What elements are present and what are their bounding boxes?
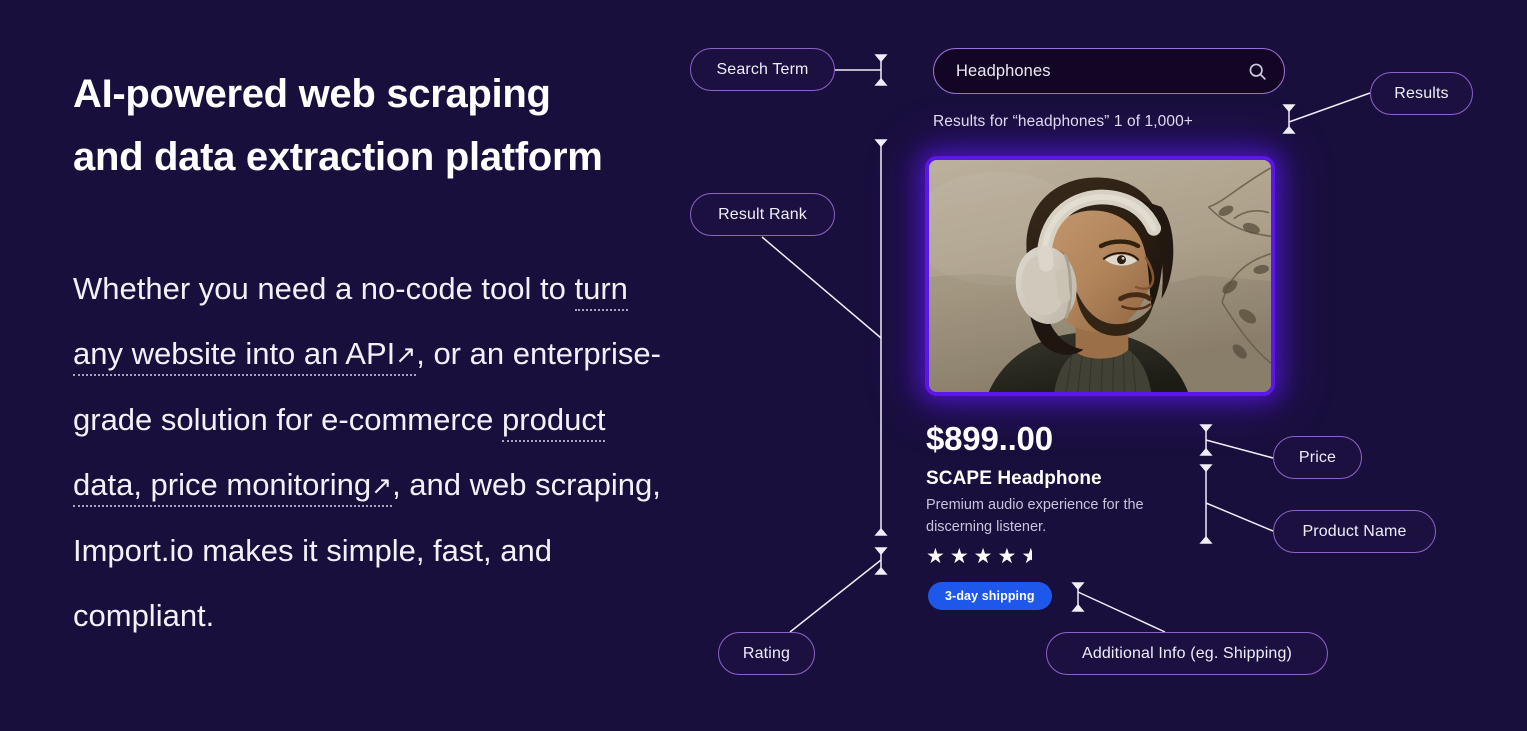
product-image[interactable] <box>925 156 1275 396</box>
callout-rating[interactable]: Rating <box>718 632 815 675</box>
callout-result-rank-label: Result Rank <box>718 206 807 224</box>
callout-result-rank[interactable]: Result Rank <box>690 193 835 236</box>
product-photo-illustration <box>929 160 1271 395</box>
star-half-icon: ★ <box>1021 546 1032 567</box>
callout-results[interactable]: Results <box>1370 72 1473 115</box>
rating-stars: ★★★★★ <box>926 546 1032 567</box>
headline-line-1: AI-powered web scraping <box>73 72 551 116</box>
star-full-icon: ★ <box>974 545 998 568</box>
search-input-value: Headphones <box>956 62 1247 81</box>
star-full-icon: ★ <box>926 545 950 568</box>
hero-body-copy: Whether you need a no-code tool to turn … <box>73 257 673 648</box>
callout-additional-info[interactable]: Additional Info (eg. Shipping) <box>1046 632 1328 675</box>
hero-section: AI-powered web scraping and data extract… <box>0 0 1527 731</box>
external-link-arrow-icon: ↗ <box>395 323 416 388</box>
callout-results-label: Results <box>1394 85 1448 103</box>
body-segment-1: Whether you need a no-code tool to <box>73 271 575 306</box>
results-count-text: Results for “headphones” 1 of 1,000+ <box>933 113 1193 131</box>
callout-price[interactable]: Price <box>1273 436 1362 479</box>
star-full-icon: ★ <box>997 545 1021 568</box>
callout-product-name-label: Product Name <box>1302 523 1406 541</box>
callout-product-name[interactable]: Product Name <box>1273 510 1436 553</box>
product-name: SCAPE Headphone <box>926 468 1102 490</box>
headline-line-2: and data extraction platform <box>73 135 602 179</box>
external-link-arrow-icon: ↗ <box>371 454 392 519</box>
callout-price-label: Price <box>1299 449 1336 467</box>
callout-additional-info-label: Additional Info (eg. Shipping) <box>1082 645 1292 663</box>
callout-search-term-label: Search Term <box>716 61 808 79</box>
callout-search-term[interactable]: Search Term <box>690 48 835 91</box>
page-title: AI-powered web scraping and data extract… <box>73 63 673 189</box>
search-icon[interactable] <box>1247 61 1268 82</box>
star-full-icon: ★ <box>950 545 974 568</box>
shipping-badge: 3-day shipping <box>928 582 1052 610</box>
search-input[interactable]: Headphones <box>933 48 1285 94</box>
callout-rating-label: Rating <box>743 645 790 663</box>
product-description: Premium audio experience for the discern… <box>926 494 1186 538</box>
product-price: $899..00 <box>926 420 1053 458</box>
